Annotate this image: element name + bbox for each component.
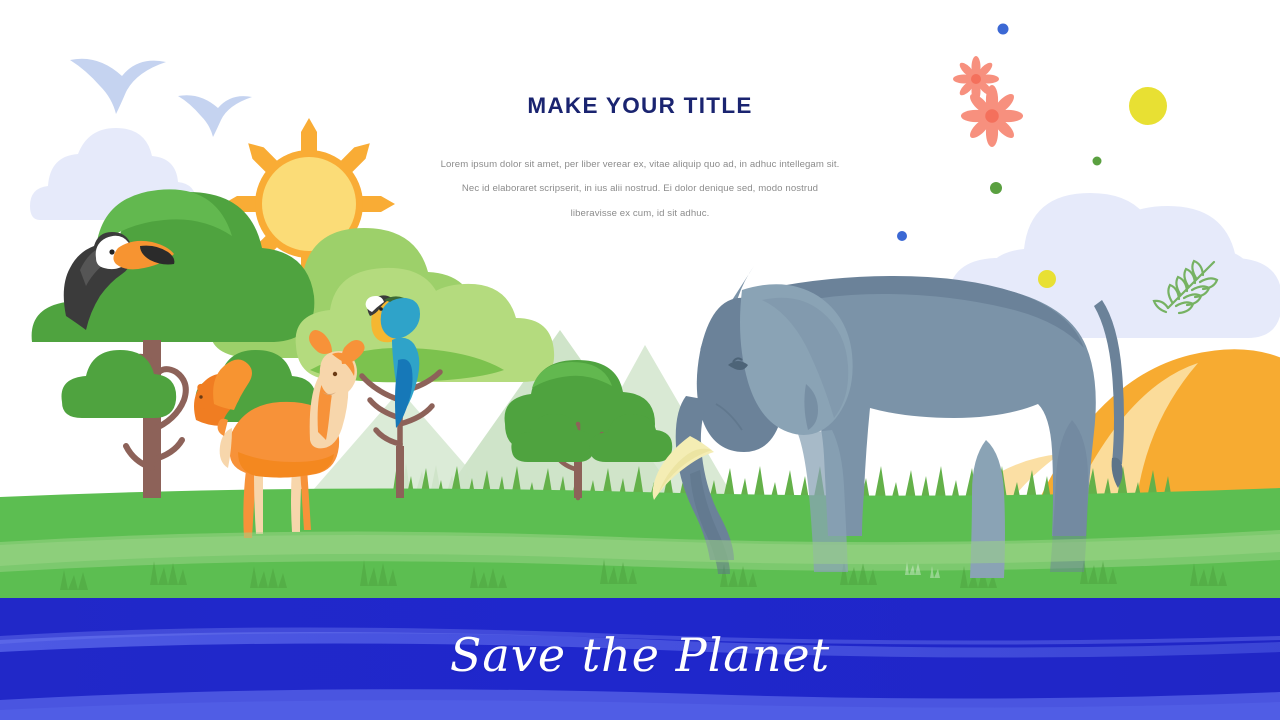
dot-icon bbox=[998, 24, 1009, 35]
body-paragraph: Lorem ipsum dolor sit amet, per liber ve… bbox=[440, 153, 840, 226]
banner-headline: Save the Planet bbox=[0, 628, 1280, 682]
dot-icon bbox=[1129, 87, 1167, 125]
page-title: MAKE YOUR TITLE bbox=[440, 92, 840, 119]
title-text-block: MAKE YOUR TITLE Lorem ipsum dolor sit am… bbox=[440, 92, 840, 226]
dot-icon bbox=[1038, 270, 1056, 288]
dot-icon bbox=[1093, 157, 1102, 166]
dot-icon bbox=[990, 182, 1002, 194]
dot-icon bbox=[897, 231, 907, 241]
slide-canvas: MAKE YOUR TITLE Lorem ipsum dolor sit am… bbox=[0, 0, 1280, 720]
